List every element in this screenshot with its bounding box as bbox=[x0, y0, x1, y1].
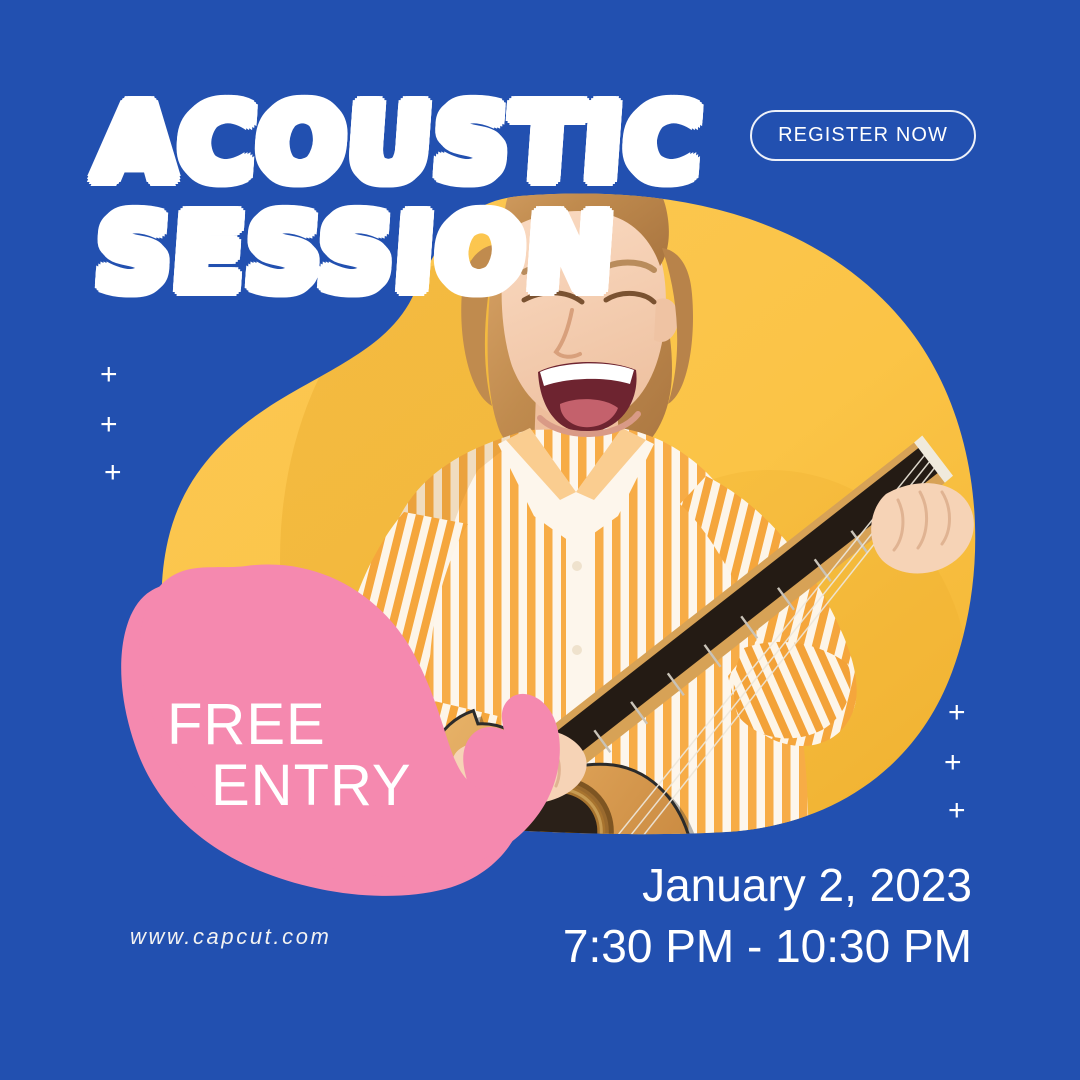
poster-canvas: ACOUSTIC SESSION REGISTER NOW FREE ENTRY… bbox=[0, 0, 1080, 1080]
register-now-button[interactable]: REGISTER NOW bbox=[750, 110, 976, 161]
pink-blob-layer bbox=[0, 0, 1080, 1080]
